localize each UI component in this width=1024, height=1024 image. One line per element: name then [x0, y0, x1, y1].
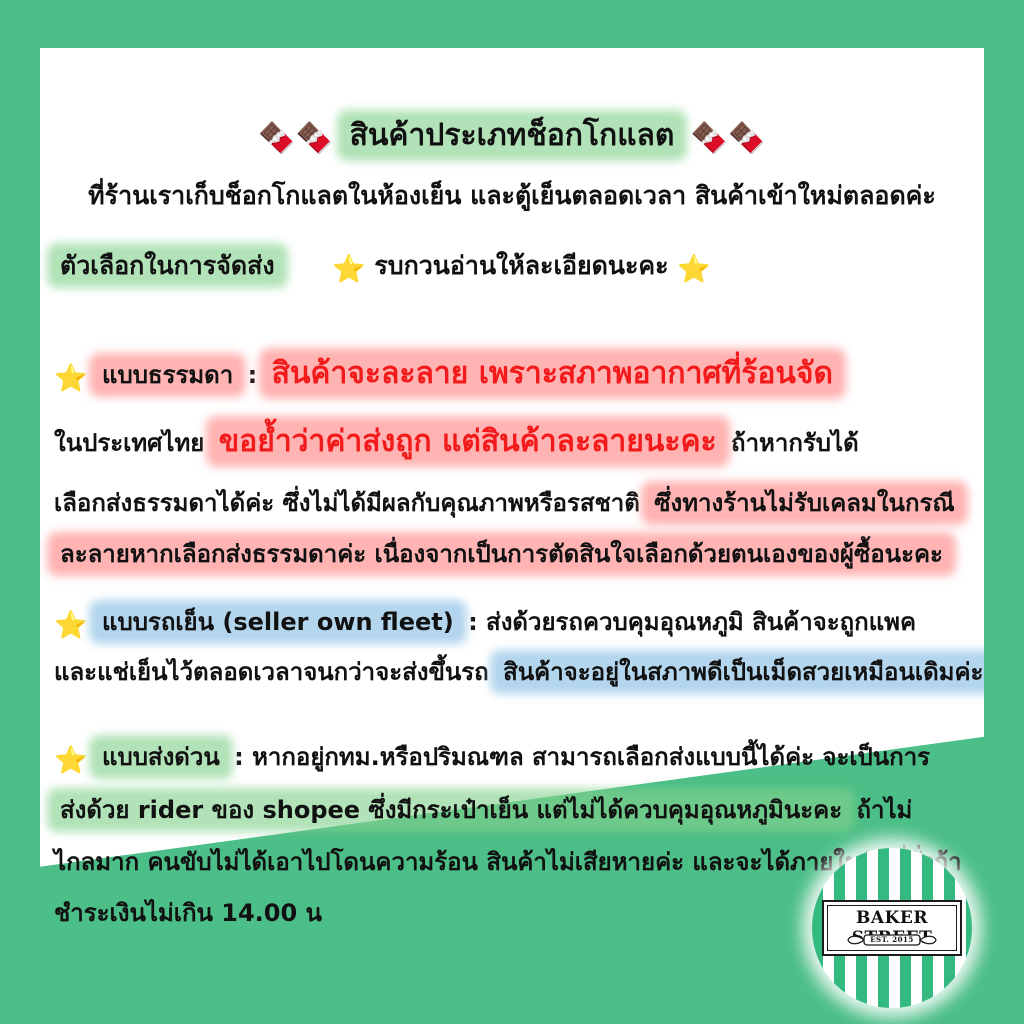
option-cold-truck-line-1: และแช่เย็นไว้ตลอดเวลาจนกว่าจะส่งขึ้นรถ ส…	[40, 660, 984, 685]
chocolate-icon: 🍫	[296, 121, 333, 156]
option-express-header: ⭐ แบบส่งด่วน : หากอยู่กทม.หรือปริมณฑล สา…	[40, 745, 984, 775]
star-icon: ⭐	[54, 610, 88, 641]
option-cold-truck-label: แบบรถเย็น (seller own fleet)	[96, 607, 460, 637]
option-standard-line-0-seg-0: สินค้าจะละลาย เพราะสภาพอากาศที่ร้อนจัด	[266, 355, 839, 392]
option-cold-truck-line-1-seg-0: และแช่เย็นไว้ตลอดเวลาจนกว่าจะส่งขึ้นรถ	[54, 658, 489, 686]
chocolate-icon: 🍫	[728, 121, 765, 156]
option-express-line-0-seg-0: หากอยู่กทม.หรือปริมณฑล สามารถเลือกส่งแบบ…	[252, 743, 930, 771]
star-icon: ⭐	[54, 363, 88, 394]
option-standard-line-2: เลือกส่งธรรมดาได้ค่ะ ซึ่งไม่ได้มีผลกับคุ…	[40, 491, 984, 516]
white-content-card: 🍫🍫 สินค้าประเภทช็อกโกแลต 🍫🍫 ที่ร้านเราเก…	[40, 48, 984, 976]
option-cold-truck-line-1-seg-1: สินค้าจะอยู่ในสภาพดีเป็นเม็ดสวยเหมือนเดิ…	[497, 657, 984, 687]
option-cold-truck-separator: :	[468, 608, 478, 636]
chocolate-icon: 🍫	[691, 121, 728, 156]
shipping-read-note: รบกวนอ่านให้ละเอียดนะคะ	[374, 251, 668, 280]
star-icon: ⭐	[677, 254, 711, 285]
option-express-line-3-seg-0: ชำระเงินไม่เกิน 14.00 น	[54, 899, 322, 927]
option-standard-line-3: ละลายหากเลือกส่งธรรมดาค่ะ เนื่องจากเป็นก…	[40, 542, 984, 567]
option-standard-line-1-seg-1: ขอย้ำว่าค่าส่งถูก แต่สินค้าละลายนะคะ	[213, 423, 723, 460]
header-subtitle: ที่ร้านเราเก็บช็อกโกแลตในห้องเย็น และตู้…	[40, 183, 984, 209]
poster-content: 🍫🍫 สินค้าประเภทช็อกโกแลต 🍫🍫 ที่ร้านเราเก…	[40, 48, 984, 976]
shipping-heading-row: ตัวเลือกในการจัดส่ง ⭐ รบกวนอ่านให้ละเอีย…	[40, 253, 984, 284]
option-express-line-1: ส่งด้วย rider ของ shopee ซึ่งมีกระเป๋าเย…	[40, 798, 984, 823]
option-standard-line-2-seg-1: ซึ่งทางร้านไม่รับเคลมในกรณี	[648, 488, 960, 518]
logo-nameplate: BAKER STREET EST. 2015	[822, 900, 962, 956]
option-standard-line-1-seg-2: ถ้าหากรับได้	[731, 429, 859, 457]
star-icon: ⭐	[54, 745, 88, 776]
shipping-options-heading: ตัวเลือกในการจัดส่ง	[54, 250, 281, 281]
option-standard-line-2-seg-0: เลือกส่งธรรมดาได้ค่ะ ซึ่งไม่ได้มีผลกับคุ…	[54, 489, 640, 517]
poster-canvas: 🍫🍫 สินค้าประเภทช็อกโกแลต 🍫🍫 ที่ร้านเราเก…	[0, 0, 1024, 1024]
star-icon: ⭐	[332, 254, 366, 285]
logo-established: EST. 2015	[824, 935, 960, 944]
header-title-row: 🍫🍫 สินค้าประเภทช็อกโกแลต 🍫🍫	[40, 120, 984, 155]
option-cold-truck-header: ⭐ แบบรถเย็น (seller own fleet) : ส่งด้วย…	[40, 610, 984, 640]
option-express-separator: :	[234, 743, 244, 771]
option-cold-truck-line-0-seg-0: ส่งด้วยรถควบคุมอุณหภูมิ สินค้าจะถูกแพค	[486, 608, 916, 636]
option-express-line-1-seg-1: ถ้าไม่	[856, 796, 912, 824]
option-express-line-1-seg-0: ส่งด้วย rider ของ shopee ซึ่งมีกระเป๋าเย…	[54, 795, 848, 825]
chocolate-icon: 🍫	[258, 121, 295, 156]
option-standard-line-3-seg-0: ละลายหากเลือกส่งธรรมดาค่ะ เนื่องจากเป็นก…	[54, 539, 949, 569]
option-standard-line-1: ในประเทศไทย ขอย้ำว่าค่าส่งถูก แต่สินค้าล…	[40, 426, 984, 458]
option-standard-header: ⭐ แบบธรรมดา : สินค้าจะละลาย เพราะสภาพอาก…	[40, 358, 984, 393]
option-express-label: แบบส่งด่วน	[96, 742, 226, 772]
logo-striped-circle: BAKER STREET EST. 2015	[812, 848, 972, 1008]
option-standard-label: แบบธรรมดา	[96, 360, 239, 390]
option-standard-line-1-seg-0: ในประเทศไทย	[54, 429, 204, 457]
option-standard-separator: :	[248, 361, 258, 389]
brand-logo: BAKER STREET EST. 2015	[812, 848, 972, 1008]
page-title: สินค้าประเภทช็อกโกแลต	[344, 117, 681, 154]
